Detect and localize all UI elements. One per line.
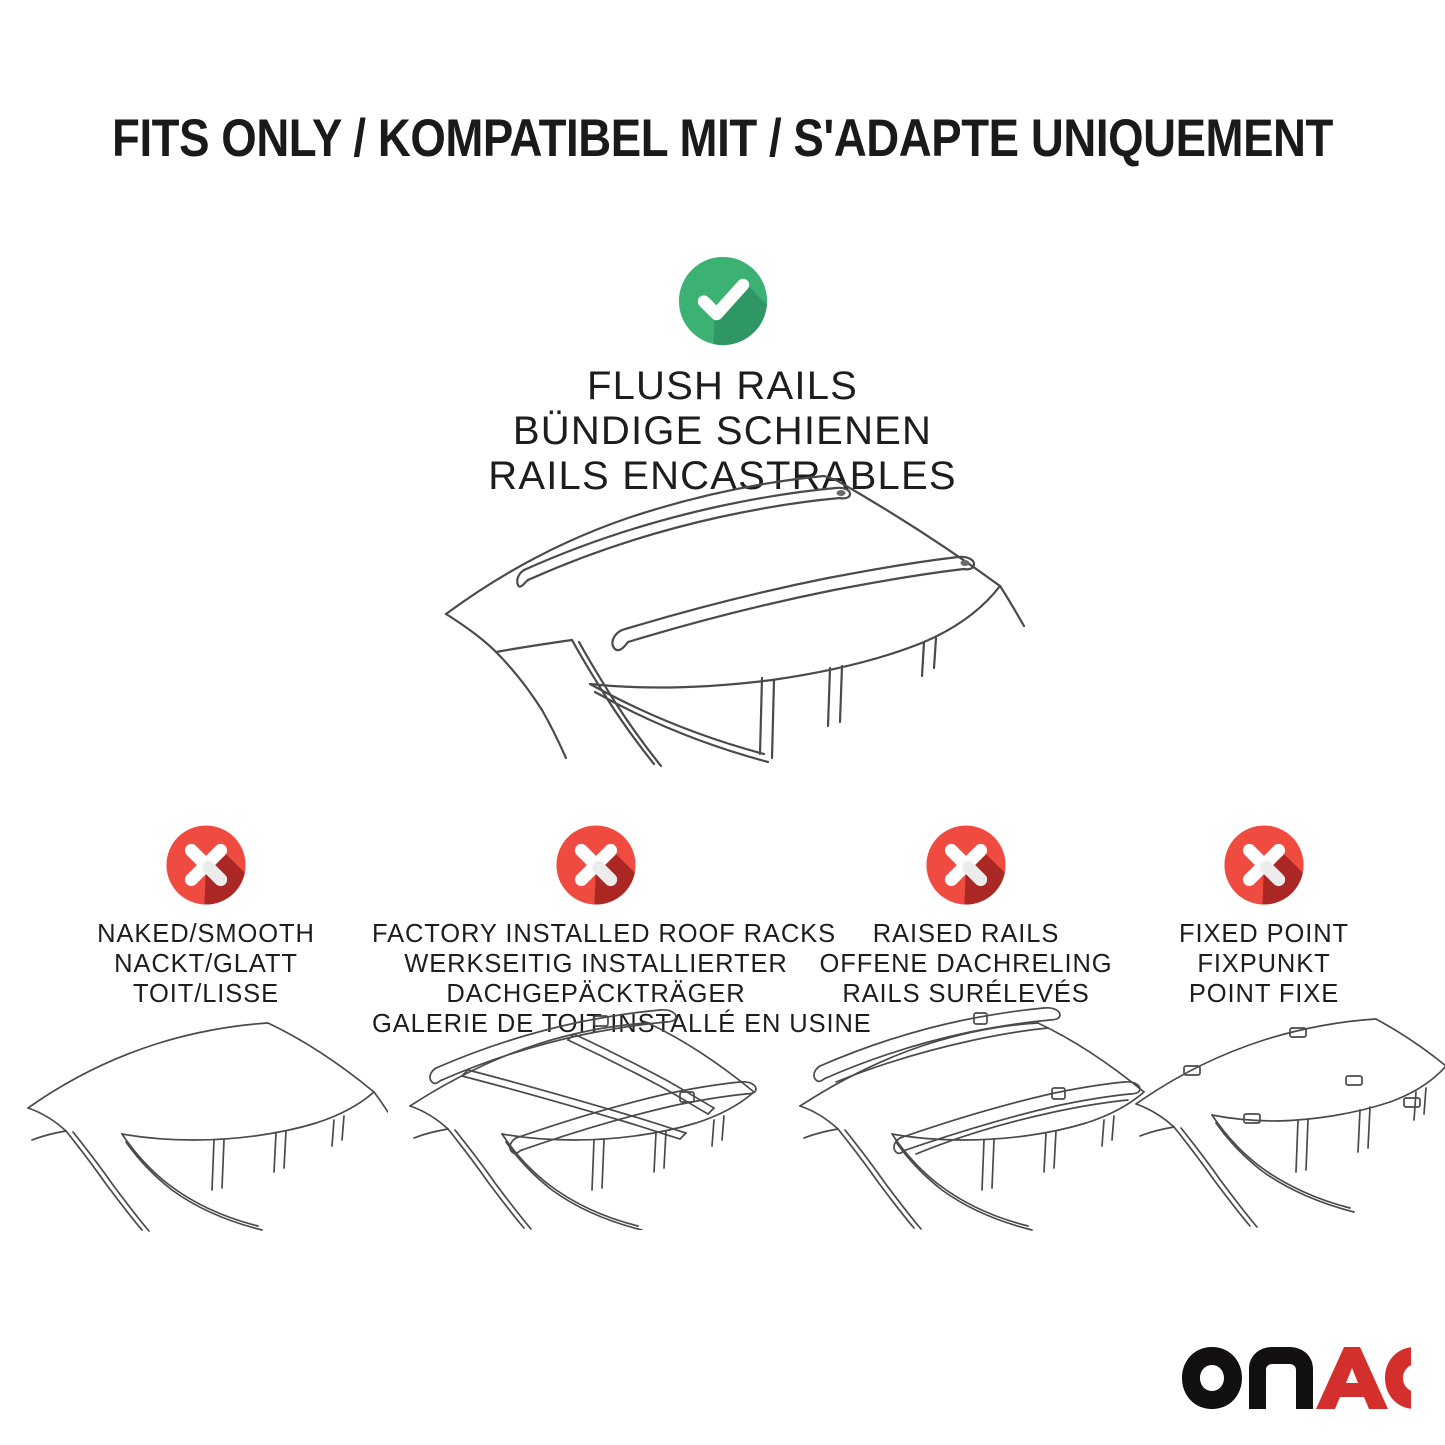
car-roof-with-flush-rails-illustration — [432, 462, 1032, 772]
incompatible-column-fixed-point: FIXED POINT FIXPUNKT POINT FIXE — [1118, 822, 1410, 1009]
label-line: TOIT/LISSE — [30, 979, 382, 1009]
omac-logo — [1179, 1343, 1411, 1413]
label-line: NACKT/GLATT — [30, 949, 382, 979]
green-check-circle-icon — [674, 252, 772, 350]
car-roof-fixed-point-illustration — [1128, 1010, 1445, 1240]
label-line: NAKED/SMOOTH — [30, 919, 382, 949]
car-roof-raised-rails-illustration — [788, 1004, 1158, 1234]
label-line: OFFENE DACHRELING — [818, 949, 1114, 979]
red-x-circle-icon — [1221, 822, 1307, 908]
label-line: POINT FIXE — [1118, 979, 1410, 1009]
incompatible-column-naked-smooth: NAKED/SMOOTH NACKT/GLATT TOIT/LISSE — [30, 822, 382, 1009]
car-roof-naked-smooth-illustration — [18, 1012, 388, 1242]
fitment-compatibility-infographic: FITS ONLY / KOMPATIBEL MIT / S'ADAPTE UN… — [0, 0, 1445, 1445]
compatible-label-en: FLUSH RAILS — [0, 364, 1445, 409]
label-line: FACTORY INSTALLED ROOF RACKS — [372, 919, 820, 949]
car-roof-factory-installed-roof-racks-illustration — [398, 1000, 768, 1230]
incompatible-labels-naked-smooth: NAKED/SMOOTH NACKT/GLATT TOIT/LISSE — [30, 919, 382, 1009]
incompatible-labels-fixed-point: FIXED POINT FIXPUNKT POINT FIXE — [1118, 919, 1410, 1009]
label-line: WERKSEITIG INSTALLIERTER — [372, 949, 820, 979]
red-x-circle-icon — [553, 822, 639, 908]
compatible-label-de: BÜNDIGE SCHIENEN — [0, 409, 1445, 454]
label-line: FIXED POINT — [1118, 919, 1410, 949]
incompatible-column-raised-rails: RAISED RAILS OFFENE DACHRELING RAILS SUR… — [818, 822, 1114, 1009]
incompatible-labels-raised-rails: RAISED RAILS OFFENE DACHRELING RAILS SUR… — [818, 919, 1114, 1009]
label-line: FIXPUNKT — [1118, 949, 1410, 979]
red-x-circle-icon — [923, 822, 1009, 908]
label-line: RAISED RAILS — [818, 919, 1114, 949]
page-title: FITS ONLY / KOMPATIBEL MIT / S'ADAPTE UN… — [101, 108, 1344, 169]
red-x-circle-icon — [163, 822, 249, 908]
